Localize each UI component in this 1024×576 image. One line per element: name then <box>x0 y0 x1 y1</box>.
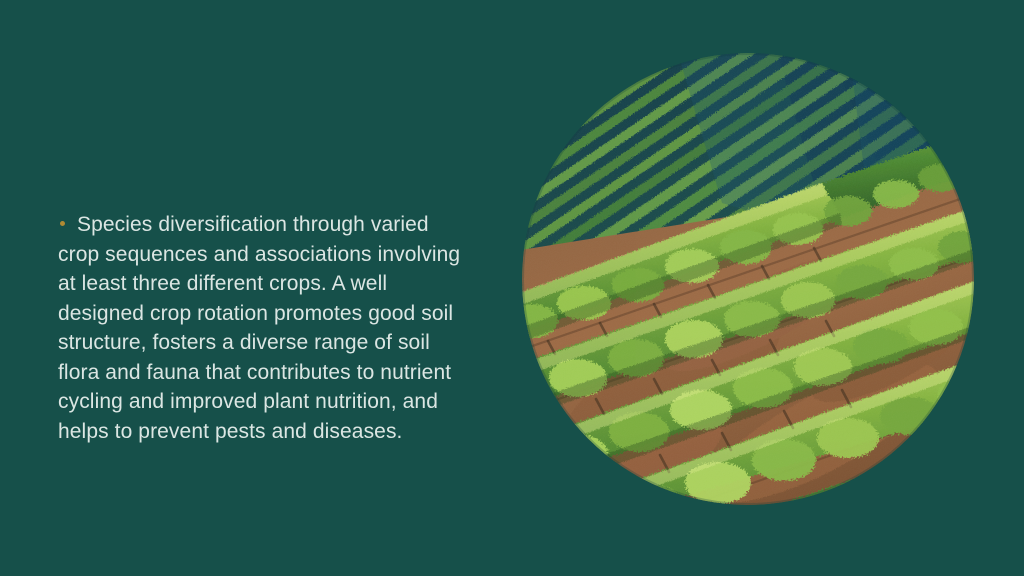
vineyard-illustration <box>522 53 974 505</box>
presentation-slide: Species diversification through varied c… <box>0 0 1024 576</box>
bullet-paragraph: Species diversification through varied c… <box>58 210 470 446</box>
bullet-dot-icon <box>60 221 65 226</box>
vineyard-photo <box>522 53 974 505</box>
body-text-block: Species diversification through varied c… <box>58 210 470 446</box>
bullet-text: Species diversification through varied c… <box>58 213 460 443</box>
